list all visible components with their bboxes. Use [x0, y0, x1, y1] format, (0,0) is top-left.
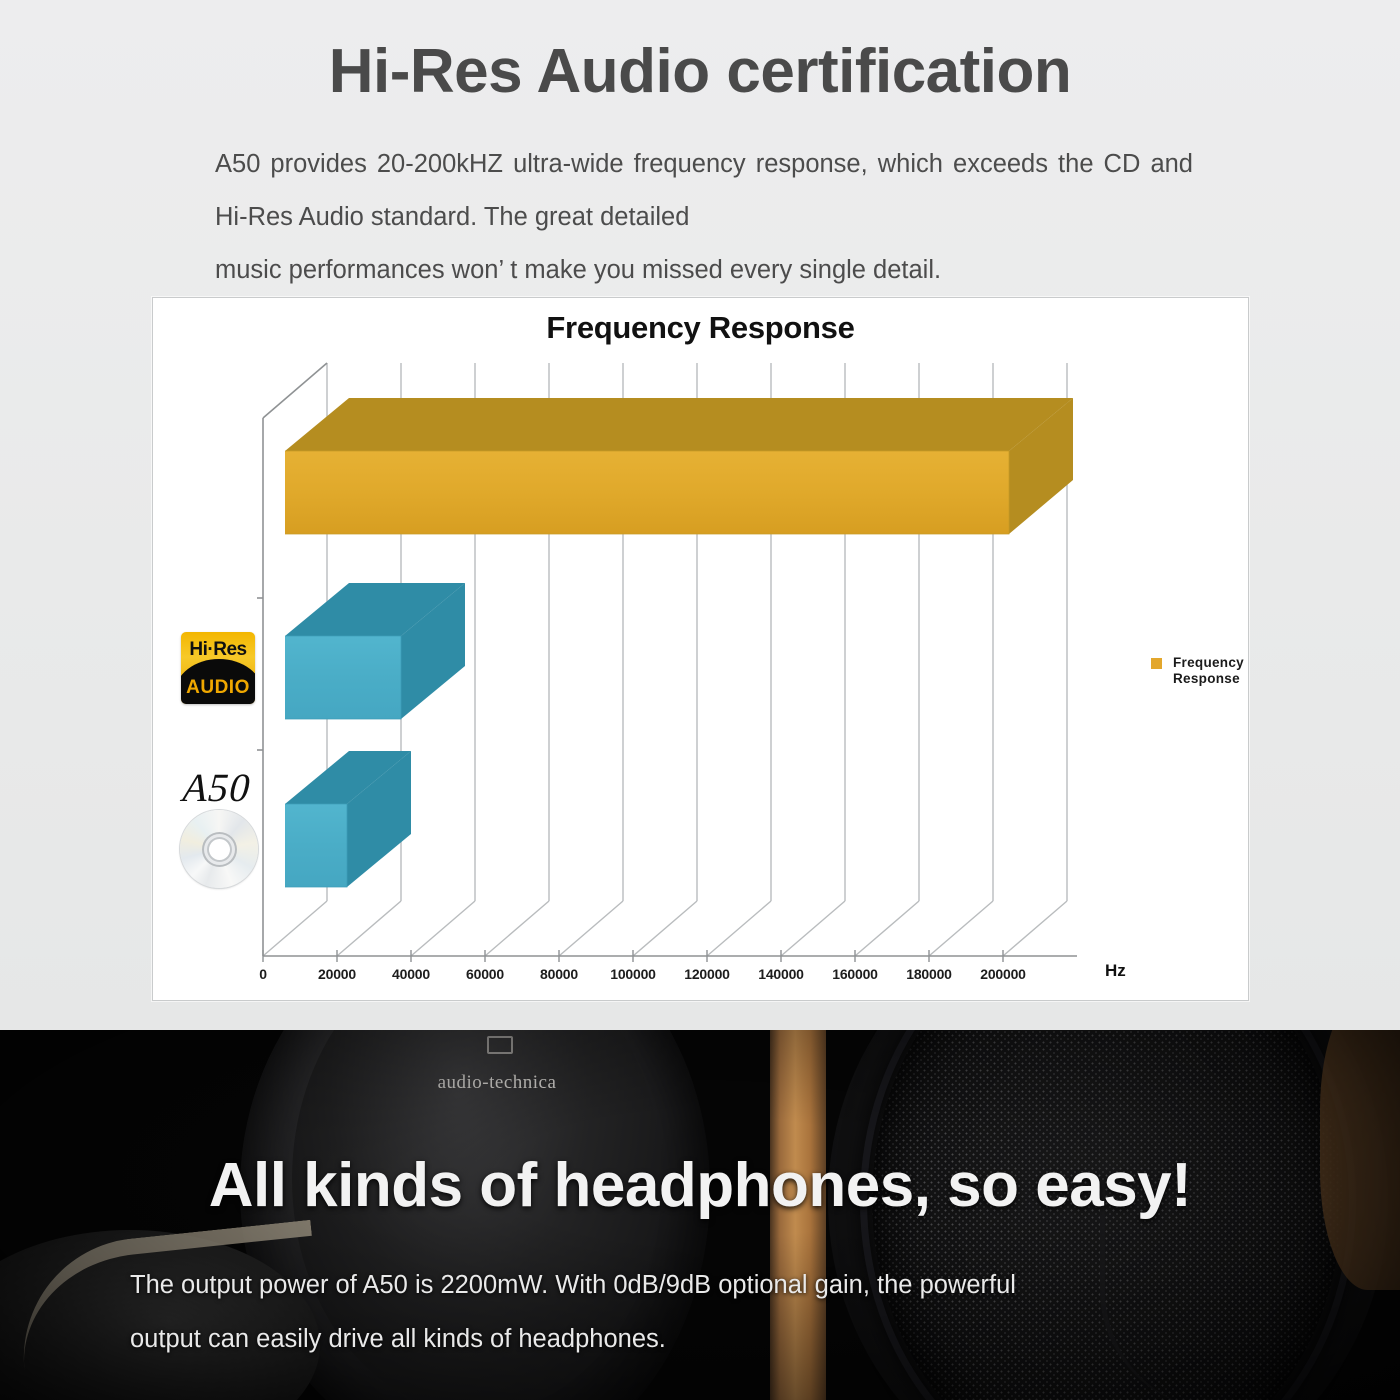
hi-res-logo-bottom-text: AUDIO — [181, 675, 255, 701]
compact-disc-icon — [180, 810, 258, 888]
legend-swatch-frequency-response — [1151, 658, 1162, 669]
intro-line-3: music performances won’ t make you misse… — [215, 244, 1193, 297]
category-label-a50: A50 — [181, 764, 252, 811]
bottom-heading: All kinds of headphones, so easy! — [0, 1150, 1400, 1221]
hi-res-certification-section: Hi-Res Audio certification A50 provides … — [0, 0, 1400, 1030]
hi-res-logo-top-text: Hi·Res — [181, 632, 255, 668]
compact-disc-hub — [209, 839, 230, 860]
hi-res-audio-logo-icon: Hi·Res AUDIO — [181, 632, 255, 704]
xtick-label: 60000 — [466, 966, 504, 982]
intro-paragraph: A50 provides 20-200kHZ ultra-wide freque… — [215, 138, 1193, 297]
frequency-response-chart-card: Frequency Response — [152, 297, 1249, 1001]
chart-xaxis-unit-label: Hz — [1105, 961, 1126, 981]
bottom-paragraph: The output power of A50 is 2200mW. With … — [130, 1258, 1278, 1366]
bar-hires — [285, 583, 465, 719]
chart-plot-area — [153, 298, 1250, 1002]
bar-cd — [285, 751, 411, 887]
intro-line-1: A50 provides 20-200kHZ ultra-wide freque… — [215, 150, 943, 178]
xtick-label: 140000 — [758, 966, 804, 982]
xtick-label: 40000 — [392, 966, 430, 982]
xtick-label: 160000 — [832, 966, 878, 982]
xtick-label: 0 — [259, 966, 267, 982]
xtick-label: 120000 — [684, 966, 730, 982]
headphones-compatibility-section: audio-technica All kinds of headphones, … — [0, 1030, 1400, 1400]
bar-a50 — [285, 398, 1073, 534]
page-title: Hi-Res Audio certification — [0, 36, 1400, 107]
xtick-label: 20000 — [318, 966, 356, 982]
xtick-label: 180000 — [906, 966, 952, 982]
xtick-label: 80000 — [540, 966, 578, 982]
bottom-line-2: output can easily drive all kinds of hea… — [130, 1312, 1278, 1366]
bottom-line-1: The output power of A50 is 2200mW. With … — [130, 1271, 1016, 1299]
chart-legend: Frequency Response — [1151, 655, 1244, 687]
legend-label-frequency-response: Frequency Response — [1173, 655, 1244, 687]
xtick-label: 200000 — [980, 966, 1026, 982]
xtick-label: 100000 — [610, 966, 656, 982]
